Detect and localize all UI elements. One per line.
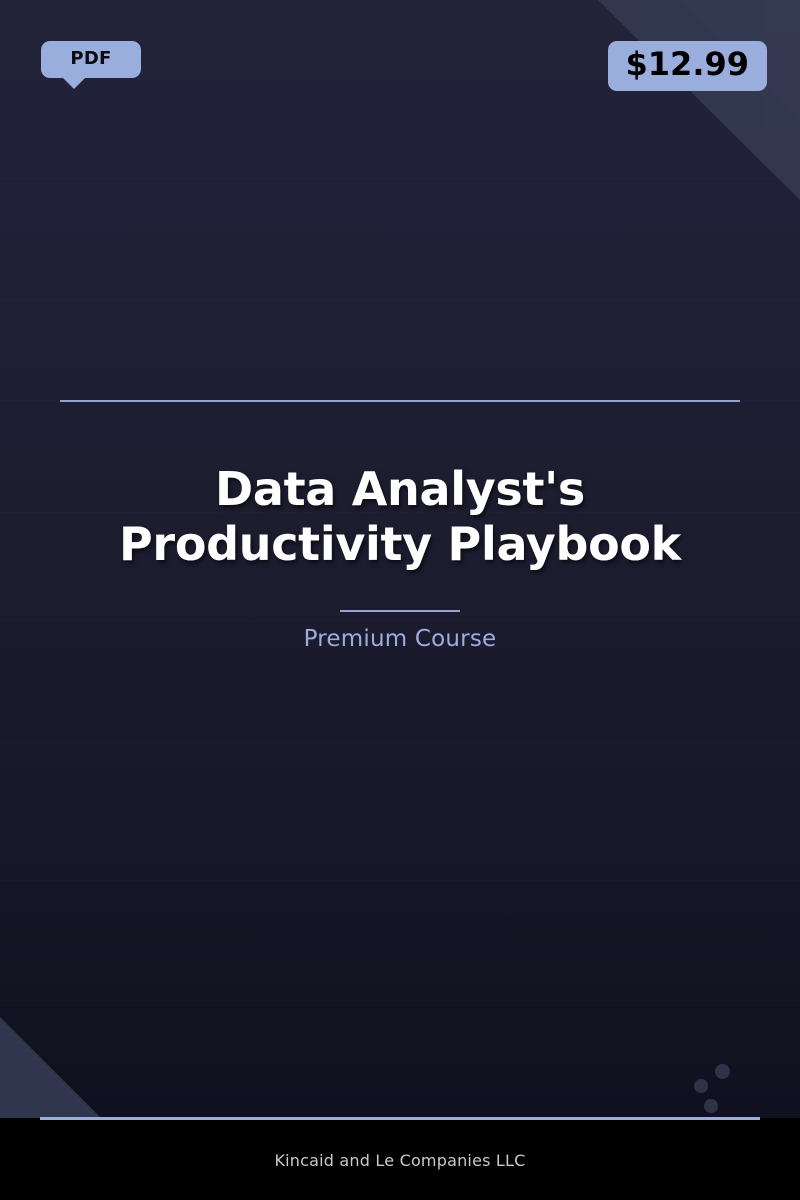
corner-decoration-bottom-left [0,1017,101,1118]
background-band [0,1000,800,1001]
format-badge-pointer-icon [62,77,86,89]
corner-decoration-top-right [598,0,800,200]
price-badge[interactable]: $12.99 [608,41,767,91]
price-badge-label: $12.99 [626,45,749,83]
cover-canvas: PDF $12.99 Data Analyst's Productivity P… [0,0,800,1118]
dots-decoration [690,1060,740,1115]
title-top-divider [60,400,740,402]
footer-divider [40,1117,760,1120]
footer: Kincaid and Le Companies LLC [0,1120,800,1200]
background-band [0,742,800,743]
decorative-dot-icon [715,1064,730,1079]
decorative-dot-icon [704,1099,718,1113]
background-band [0,880,800,881]
background-band [0,1076,800,1077]
decorative-dot-icon [694,1079,708,1093]
page-title: Data Analyst's Productivity Playbook [60,462,740,572]
format-badge[interactable]: PDF [41,41,141,78]
background-band [0,178,800,179]
page-subtitle: Premium Course [60,626,740,652]
product-cover: PDF $12.99 Data Analyst's Productivity P… [0,0,800,1200]
publisher-name: Kincaid and Le Companies LLC [274,1151,525,1170]
title-block: Data Analyst's Productivity Playbook Pre… [60,462,740,652]
format-badge-label: PDF [70,48,111,69]
background-band [0,300,800,301]
subtitle-divider [340,610,460,612]
